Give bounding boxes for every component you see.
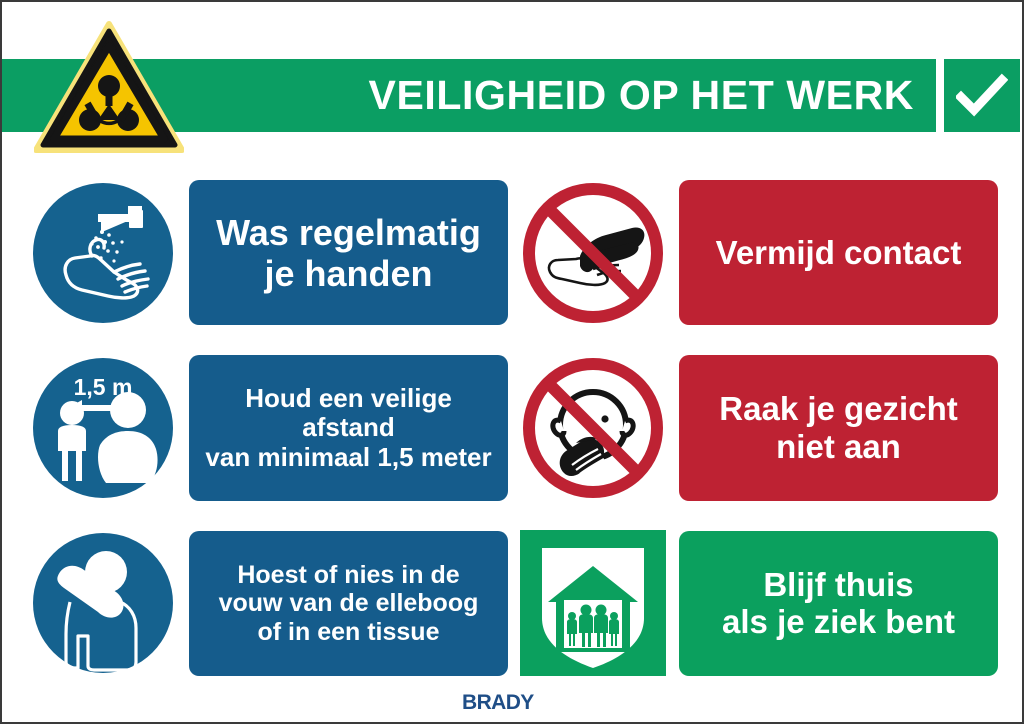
- sign-keep-distance: 1,5 m: [30, 347, 508, 508]
- sign-stay-home-panel: Blijf thuis als je ziek bent: [679, 531, 998, 676]
- sign-text-line: niet aan: [719, 428, 957, 466]
- sign-cough-into-elbow: Hoest of nies in de vouw van de elleboog…: [30, 523, 508, 684]
- shield-house-family-icon: [520, 530, 666, 676]
- wash-hands-icon: [30, 180, 176, 326]
- sign-text-line: Hoest of nies in de: [219, 561, 479, 590]
- sign-stay-home-if-sick: Blijf thuis als je ziek bent: [520, 523, 998, 684]
- no-hand-contact-prohibition-icon: [520, 180, 666, 326]
- sign-text-line: vouw van de elleboog: [219, 589, 479, 618]
- header-check-badge: [944, 59, 1020, 132]
- no-touching-face-prohibition-icon: [520, 355, 666, 501]
- sign-avoid-contact-panel: Vermijd contact: [679, 180, 998, 325]
- social-distance-1-5-m-icon: 1,5 m: [30, 355, 176, 501]
- sign-wash-hands-panel: Was regelmatig je handen: [189, 180, 508, 325]
- sign-text-line: van minimaal 1,5 meter: [203, 443, 494, 473]
- sign-text-line: Raak je gezicht: [719, 390, 957, 428]
- sign-cough-into-elbow-panel: Hoest of nies in de vouw van de elleboog…: [189, 531, 508, 676]
- sign-keep-distance-panel: Houd een veilige afstand van minimaal 1,…: [189, 355, 508, 500]
- sign-text-line: Blijf thuis: [722, 566, 955, 604]
- sign-text-line: of in een tissue: [219, 618, 479, 647]
- sign-dont-touch-face: Raak je gezicht niet aan: [520, 347, 998, 508]
- brady-logo-text: BRADY: [462, 691, 534, 714]
- brady-logo: BRADY: [2, 690, 1020, 719]
- sign-text-line: Vermijd contact: [716, 234, 962, 272]
- sign-avoid-contact: Vermijd contact: [520, 172, 998, 333]
- page-title: VEILIGHEID OP HET WERK: [369, 72, 915, 119]
- sign-text-line: Houd een veilige afstand: [203, 384, 494, 443]
- sign-grid: Was regelmatig je handen: [2, 172, 1020, 684]
- safety-poster: VEILIGHEID OP HET WERK: [0, 0, 1024, 724]
- sign-text-line: als je ziek bent: [722, 603, 955, 641]
- check-mark-icon: [956, 72, 1008, 120]
- chemical-hazard-warning-triangle-icon: [34, 20, 184, 155]
- sign-wash-hands: Was regelmatig je handen: [30, 172, 508, 333]
- cough-into-elbow-icon: [30, 530, 176, 676]
- sign-text-line: je handen: [216, 253, 481, 294]
- sign-text-line: Was regelmatig: [216, 212, 481, 253]
- sign-dont-touch-face-panel: Raak je gezicht niet aan: [679, 355, 998, 500]
- header-divider: [936, 59, 944, 132]
